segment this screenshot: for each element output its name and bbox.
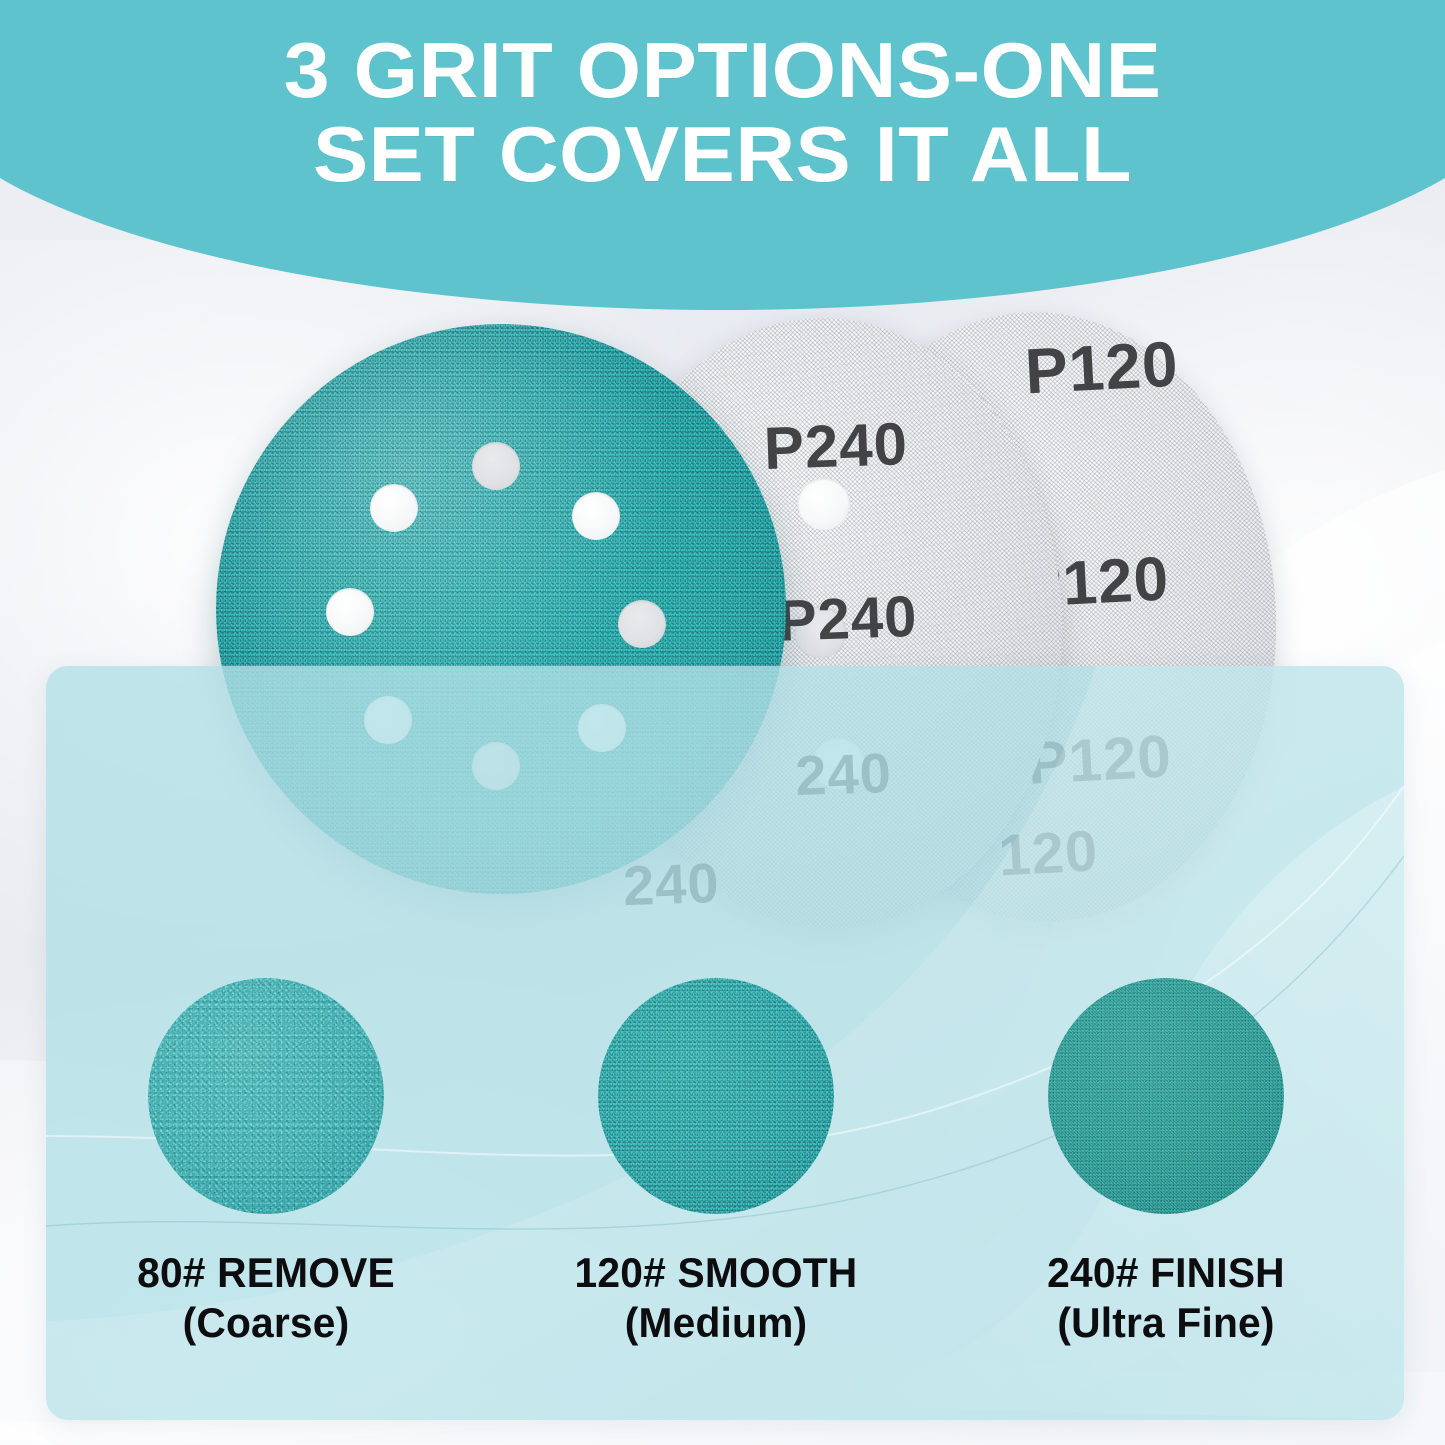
disc-hole <box>618 600 666 648</box>
grit-print-p120-top: P120 <box>1023 327 1180 409</box>
grit-label-medium-usage: (Medium) <box>507 1298 924 1348</box>
disc-hole <box>472 442 520 490</box>
grit-swatch-medium[interactable] <box>598 978 834 1214</box>
grit-print-p240-top: P240 <box>763 409 909 483</box>
grit-swatch-texture-medium <box>598 978 834 1214</box>
grit-swatch-texture-coarse <box>148 978 384 1214</box>
disc-hole <box>326 588 374 636</box>
grit-swatch-texture-fine <box>1048 978 1284 1214</box>
grit-label-coarse-grade: 80# REMOVE <box>57 1248 474 1298</box>
disc-hole <box>572 492 620 540</box>
grit-label-medium: 120# SMOOTH (Medium) <box>501 1248 931 1347</box>
grit-label-fine-usage: (Ultra Fine) <box>957 1298 1374 1348</box>
grit-label-coarse: 80# REMOVE (Coarse) <box>51 1248 481 1347</box>
page-title: 3 GRIT OPTIONS-ONE SET COVERS IT ALL <box>0 28 1445 196</box>
grit-label-medium-grade: 120# SMOOTH <box>507 1248 924 1298</box>
grit-print-p240-mid: P240 <box>777 583 919 655</box>
grit-label-fine-grade: 240# FINISH <box>957 1248 1374 1298</box>
disc-hole <box>797 477 851 531</box>
disc-hole <box>370 484 418 532</box>
grit-label-fine: 240# FINISH (Ultra Fine) <box>951 1248 1381 1347</box>
infographic-canvas: 3 GRIT OPTIONS-ONE SET COVERS IT ALL P12… <box>0 0 1445 1445</box>
grit-swatch-fine[interactable] <box>1048 978 1284 1214</box>
grit-label-coarse-usage: (Coarse) <box>57 1298 474 1348</box>
grit-swatch-coarse[interactable] <box>148 978 384 1214</box>
